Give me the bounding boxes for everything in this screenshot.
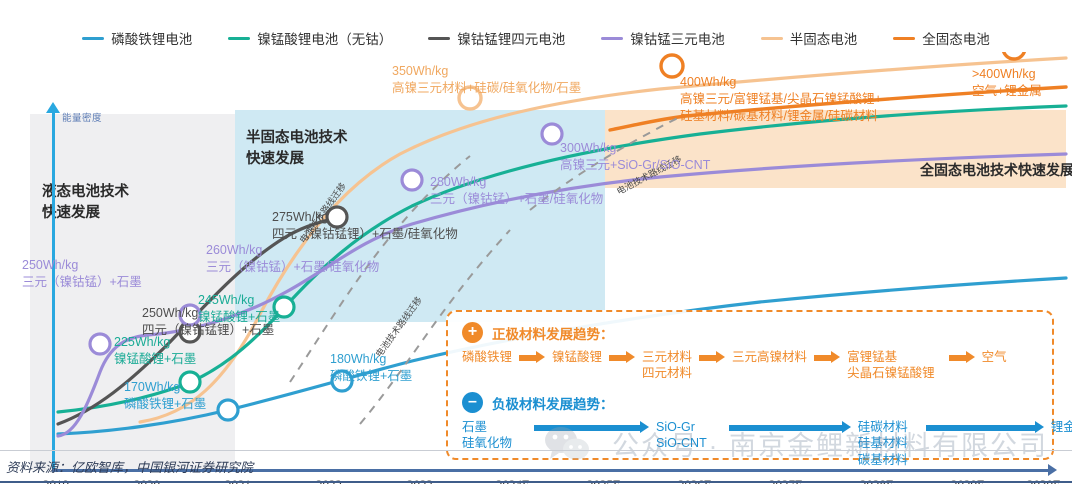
region-label-liquid-line2: 快速发展: [42, 205, 100, 221]
cathode-node-5-line2: 尖晶石镍锰酸锂: [847, 365, 935, 381]
footer-bottom-rule: [0, 481, 1072, 483]
legend-swatch-lfp: [82, 37, 104, 40]
point-material-350: 高镍三元材料+硅碳/硅氧化物/石墨: [392, 80, 581, 97]
cathode-arrow-4: [814, 351, 840, 364]
legend-label-all-solid: 全固态电池: [922, 28, 990, 48]
anode-header: – 负极材料发展趋势：: [462, 392, 1042, 413]
cathode-node-4-line1: 三元高镍材料: [732, 349, 807, 365]
cathode-node-3-line1: 三元材料: [642, 349, 692, 365]
point-value-180: 180Wh/kg: [330, 351, 412, 368]
point-material-245: 镍锰酸锂+石墨: [198, 309, 280, 326]
cathode-node-6: 空气: [982, 349, 1007, 365]
point-material-170: 磷酸铁锂+石墨: [124, 396, 206, 413]
legend-swatch-semi-solid: [761, 37, 783, 40]
region-label-liquid-line1: 液态电池技术: [42, 184, 129, 200]
legend-item-lfp[interactable]: 磷酸铁锂电池: [82, 28, 192, 48]
legend-swatch-all-solid: [893, 37, 915, 40]
region-label-all-solid: 全固态电池技术快速发展: [920, 160, 1072, 180]
anode-node-1: 石墨 硅氧化物: [462, 419, 512, 452]
point-material-280: 三元（镍钴锰）+石墨/硅氧化物: [430, 191, 603, 208]
cathode-node-2-line1: 镍锰酸锂: [552, 349, 602, 365]
anode-node-2: SiO-Gr SiO-CNT: [656, 419, 707, 452]
cathode-node-3-line2: 四元材料: [642, 365, 692, 381]
legend-swatch-lnmo: [228, 37, 250, 40]
point-label-260: 260Wh/kg 三元（镍钴锰）+石墨/硅氧化物: [206, 242, 379, 276]
region-label-semi-solid: 半固态电池技术 快速发展: [246, 128, 348, 170]
cathode-node-1-line1: 磷酸铁锂: [462, 349, 512, 365]
point-material-180: 磷酸铁锂+石墨: [330, 368, 412, 385]
anode-arrow-2: [729, 421, 851, 434]
y-axis-label: 能量密度: [62, 110, 102, 124]
point-value-260: 260Wh/kg: [206, 242, 379, 259]
point-material-400-line2: 硅基材料/碳基材料/锂金属/硅碳材料: [680, 108, 882, 125]
anode-title: 负极材料发展趋势：: [492, 393, 614, 413]
cathode-header: + 正极材料发展趋势：: [462, 322, 1042, 343]
point-value-170: 170Wh/kg: [124, 379, 206, 396]
anode-arrow-1: [534, 421, 649, 434]
point-value-400: 400Wh/kg: [680, 74, 882, 91]
point-label-245: 245Wh/kg 镍锰酸锂+石墨: [198, 292, 280, 326]
point-material-400-line1: 高镍三元/富锂锰基/尖晶石镍锰酸锂+: [680, 91, 882, 108]
minus-icon: –: [462, 392, 483, 413]
point-material-250-ncm: 三元（镍钴锰）+石墨: [22, 274, 142, 291]
legend-label-quaternary: 镍钴锰锂四元电池: [457, 28, 565, 48]
legend-swatch-ncm: [601, 37, 623, 40]
anode-node-2-line1: SiO-Gr: [656, 419, 707, 435]
point-label-400plus: >400Wh/kg 空气+锂金属: [972, 66, 1042, 100]
anode-node-4-line1: 锂金属: [1051, 419, 1072, 435]
footer-divider: [0, 450, 1072, 451]
legend-swatch-quaternary: [428, 37, 450, 40]
point-value-245: 245Wh/kg: [198, 292, 280, 309]
plus-icon: +: [462, 322, 483, 343]
cathode-node-5-line1: 富锂锰基: [847, 349, 935, 365]
anode-node-3-line1: 硅碳材料: [858, 419, 908, 435]
cathode-node-4: 三元高镍材料: [732, 349, 807, 365]
point-label-400: 400Wh/kg 高镍三元/富锂锰基/尖晶石镍锰酸锂+ 硅基材料/碳基材料/锂金…: [680, 74, 882, 125]
point-label-350: 350Wh/kg 高镍三元材料+硅碳/硅氧化物/石墨: [392, 63, 581, 97]
anode-node-3: 硅碳材料 硅基材料 碳基材料: [858, 419, 908, 468]
legend-label-ncm: 镍钴锰三元电池: [630, 28, 725, 48]
anode-node-4: 锂金属: [1051, 419, 1072, 435]
cathode-node-6-line1: 空气: [982, 349, 1007, 365]
x-axis-arrow-icon: [1048, 464, 1057, 476]
point-label-300: 300Wh/kg 高镍三元+SiO-Gr/SiO-CNT: [560, 140, 710, 174]
point-label-275: 275Wh/kg 四元（镍钴锰锂）+石墨/硅氧化物: [272, 209, 458, 243]
region-label-semi-line2: 快速发展: [246, 151, 304, 167]
chart-legend: 磷酸铁锂电池 镍锰酸锂电池（无钴） 镍钴锰锂四元电池 镍钴锰三元电池 半固态电池…: [0, 26, 1072, 50]
point-label-250-ncm: 250Wh/kg 三元（镍钴锰）+石墨: [22, 257, 142, 291]
cathode-arrow-3: [699, 351, 725, 364]
cathode-arrow-2: [609, 351, 635, 364]
plot-area: 液态电池技术 快速发展 半固态电池技术 快速发展 全固态电池技术快速发展 能量密…: [0, 52, 1072, 424]
legend-item-semi-solid[interactable]: 半固态电池: [761, 28, 858, 48]
region-label-semi-line1: 半固态电池技术: [246, 130, 348, 146]
point-value-250-ncm: 250Wh/kg: [22, 257, 142, 274]
anode-node-3-line3: 碳基材料: [858, 452, 908, 468]
anode-node-1-line1: 石墨: [462, 419, 512, 435]
point-label-225: 225Wh/kg 镍锰酸锂+石墨: [114, 334, 196, 368]
cathode-trend-section: + 正极材料发展趋势： 磷酸铁锂 镍锰酸锂: [462, 322, 1042, 382]
anode-arrow-3: [926, 421, 1044, 434]
point-value-400plus: >400Wh/kg: [972, 66, 1042, 83]
point-material-260: 三元（镍钴锰）+石墨/硅氧化物: [206, 259, 379, 276]
legend-item-all-solid[interactable]: 全固态电池: [893, 28, 990, 48]
point-value-275: 275Wh/kg: [272, 209, 458, 226]
legend-label-semi-solid: 半固态电池: [790, 28, 858, 48]
point-material-275: 四元（镍钴锰锂）+石墨/硅氧化物: [272, 226, 458, 243]
cathode-arrow-5: [949, 351, 975, 364]
legend-label-lnmo: 镍锰酸锂电池（无钴）: [257, 28, 392, 48]
anode-trend-section: – 负极材料发展趋势： 石墨 硅氧化物 SiO-Gr SiO-CNT: [462, 392, 1042, 468]
point-label-280: 280Wh/kg 三元（镍钴锰）+石墨/硅氧化物: [430, 174, 603, 208]
point-value-350: 350Wh/kg: [392, 63, 581, 80]
point-value-300: 300Wh/kg: [560, 140, 710, 157]
legend-label-lfp: 磷酸铁锂电池: [111, 28, 192, 48]
cathode-node-1: 磷酸铁锂: [462, 349, 512, 365]
legend-item-lnmo[interactable]: 镍锰酸锂电池（无钴）: [228, 28, 392, 48]
point-value-280: 280Wh/kg: [430, 174, 603, 191]
cathode-node-2: 镍锰酸锂: [552, 349, 602, 365]
materials-trend-box: + 正极材料发展趋势： 磷酸铁锂 镍锰酸锂: [446, 310, 1054, 460]
cathode-chain: 磷酸铁锂 镍锰酸锂 三元材料 四元材料: [462, 349, 1042, 382]
cathode-node-3: 三元材料 四元材料: [642, 349, 692, 382]
cathode-node-5: 富锂锰基 尖晶石镍锰酸锂: [847, 349, 935, 382]
point-label-170: 170Wh/kg 磷酸铁锂+石墨: [124, 379, 206, 413]
cathode-title: 正极材料发展趋势：: [492, 323, 614, 343]
point-material-225: 镍锰酸锂+石墨: [114, 351, 196, 368]
legend-item-quaternary[interactable]: 镍钴锰锂四元电池: [428, 28, 565, 48]
chart-root: 磷酸铁锂电池 镍锰酸锂电池（无钴） 镍钴锰锂四元电池 镍钴锰三元电池 半固态电池…: [0, 0, 1072, 484]
region-label-liquid: 液态电池技术 快速发展: [42, 182, 129, 224]
source-note: 资料来源：亿欧智库，中国银河证券研究院: [6, 457, 253, 476]
point-value-225: 225Wh/kg: [114, 334, 196, 351]
legend-item-ncm[interactable]: 镍钴锰三元电池: [601, 28, 725, 48]
point-label-180: 180Wh/kg 磷酸铁锂+石墨: [330, 351, 412, 385]
point-material-400plus: 空气+锂金属: [972, 83, 1042, 100]
point-material-300: 高镍三元+SiO-Gr/SiO-CNT: [560, 157, 710, 174]
anode-chain: 石墨 硅氧化物 SiO-Gr SiO-CNT 硅碳材料: [462, 419, 1042, 468]
point-marker-400plus: [1003, 52, 1025, 59]
cathode-arrow-1: [519, 351, 545, 364]
